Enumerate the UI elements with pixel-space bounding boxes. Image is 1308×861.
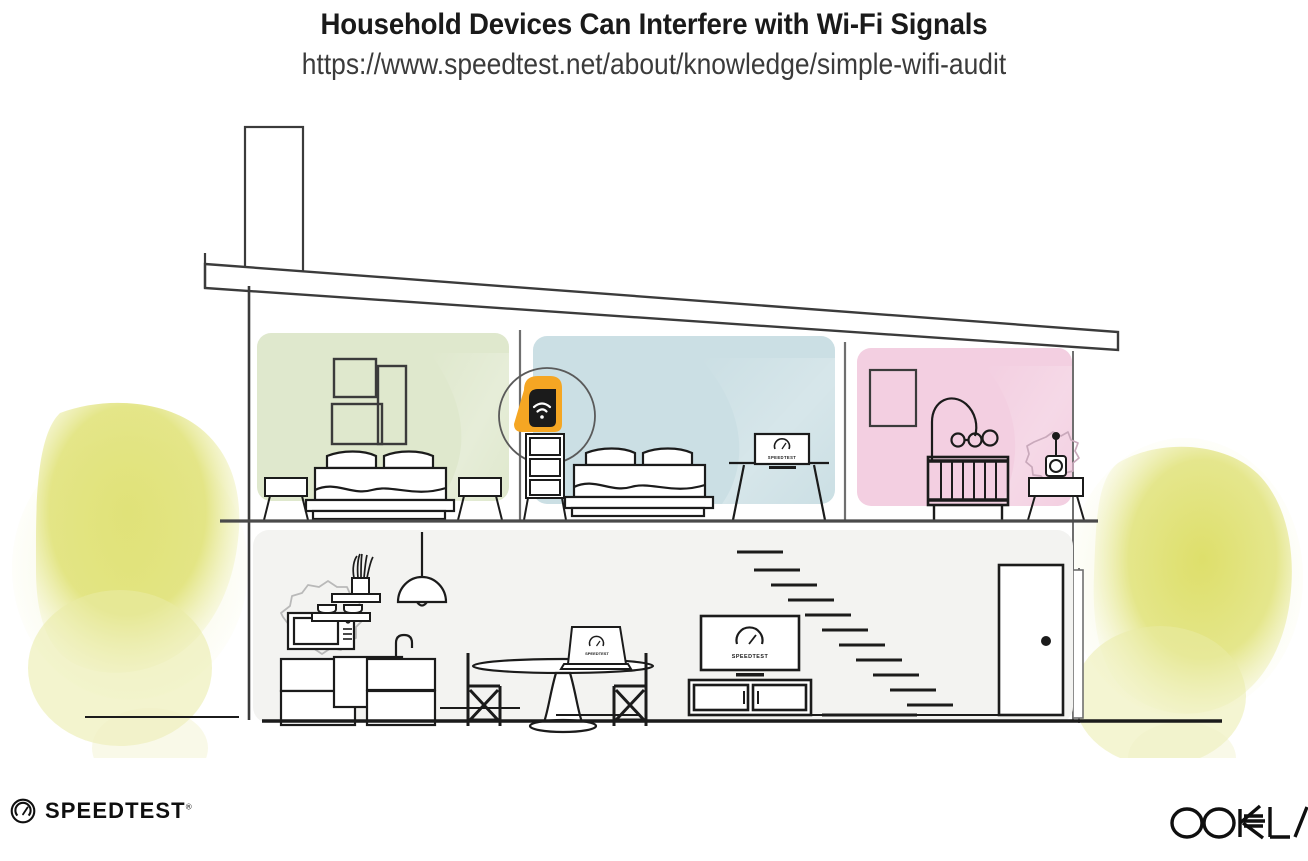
ookla-logo[interactable] (1164, 802, 1308, 849)
monitor-screen-label: SPEEDTEST (768, 455, 797, 460)
foliage-right (1067, 438, 1303, 758)
source-url: https://www.speedtest.net/about/knowledg… (78, 42, 1229, 82)
tv-speedtest[interactable]: SPEEDTEST (701, 616, 799, 677)
tv-screen-label: SPEEDTEST (732, 654, 769, 660)
speedtest-logo-text: SPEEDTEST (45, 798, 186, 823)
wifi-router[interactable] (514, 376, 562, 432)
foliage-left (12, 403, 248, 758)
ookla-wordmark (1164, 802, 1308, 844)
speedtest-trademark: ® (186, 803, 193, 812)
chimney (245, 127, 303, 280)
speedtest-logo[interactable]: SPEEDTEST® (10, 798, 193, 824)
speedometer-gauge-icon (10, 798, 36, 824)
page-title: Household Devices Can Interfere with Wi-… (52, 0, 1255, 42)
dresser-three-drawer (524, 434, 566, 520)
header: Household Devices Can Interfere with Wi-… (0, 0, 1308, 82)
poster-canvas: Household Devices Can Interfere with Wi-… (0, 0, 1308, 861)
footer: SPEEDTEST® (0, 780, 1308, 861)
laptop-screen-label: SPEEDTEST (585, 651, 609, 656)
front-door[interactable] (999, 565, 1063, 715)
tv-console (689, 680, 811, 715)
laptop-speedtest[interactable]: SPEEDTEST (561, 627, 631, 669)
monitor-speedtest-blue-room[interactable]: SPEEDTEST (755, 434, 809, 469)
door-knob-icon (1041, 636, 1051, 646)
house-illustration: SPEEDTEST (0, 108, 1308, 758)
speedtest-wordmark: SPEEDTEST® (45, 798, 193, 824)
